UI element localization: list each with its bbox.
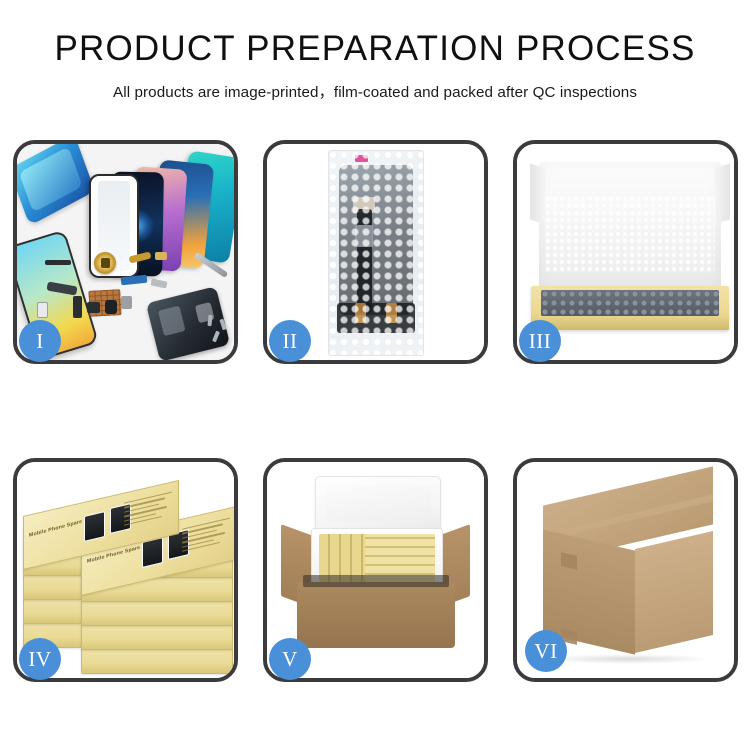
step-badge-4: IV <box>19 638 61 680</box>
step-panel-6: VI <box>513 458 738 682</box>
vibrator-motor-icon <box>105 300 117 314</box>
product-preparation-infographic: PRODUCT PREPARATION PROCESS All products… <box>0 0 750 750</box>
page-subtitle: All products are image-printed，film-coat… <box>0 80 750 102</box>
step-badge-5: V <box>269 638 311 680</box>
connector-row-icon <box>337 303 415 333</box>
stacked-box-edge <box>81 648 233 674</box>
sim-tray-icon <box>121 296 132 309</box>
step-panel-1: I <box>13 140 238 364</box>
page-title: PRODUCT PREPARATION PROCESS <box>0 30 750 69</box>
copper-coil-icon <box>94 252 116 274</box>
battery-connector-icon <box>37 302 48 318</box>
gold-contact-icon <box>386 303 397 323</box>
stacked-box-edge <box>81 624 233 650</box>
box-front-lip-icon <box>531 317 729 330</box>
process-steps-grid: I II <box>13 140 737 682</box>
box-stack-group: Mobile Phone Spare Parts Mobile Phone Sp… <box>23 488 234 666</box>
screen-assembly-icon <box>339 165 413 315</box>
small-flex-icon <box>73 296 82 318</box>
gold-contact-icon <box>355 303 366 323</box>
header: PRODUCT PREPARATION PROCESS All products… <box>0 0 750 102</box>
foam-liner-icon <box>545 196 715 272</box>
pink-label-tab-icon <box>355 155 368 162</box>
box-spec-lines <box>182 518 230 555</box>
carton-side-face-icon <box>635 531 713 653</box>
step-badge-6: VI <box>525 630 567 672</box>
wrapped-part-icon <box>541 290 719 316</box>
step-panel-4: Mobile Phone Spare Parts Mobile Phone Sp… <box>13 458 238 682</box>
foam-cooler-lid-icon <box>315 476 441 532</box>
speaker-mesh-icon <box>45 260 71 265</box>
gold-connector-icon <box>155 252 167 260</box>
step-panel-3: III <box>513 140 738 364</box>
bubble-wrap-bag <box>328 150 424 356</box>
step-badge-1: I <box>19 320 61 362</box>
box-spec-lines <box>124 492 172 529</box>
step-badge-3: III <box>519 320 561 362</box>
box-window-phone-icon <box>84 511 105 542</box>
step-panel-5: V <box>263 458 488 682</box>
kraft-box-tray-icon <box>531 286 729 330</box>
step-panel-2: II <box>263 140 488 364</box>
carton-shadow <box>543 654 713 664</box>
step-badge-2: II <box>269 320 311 362</box>
camera-module-icon <box>87 302 100 313</box>
stacked-box-edge <box>81 600 233 626</box>
open-carton-icon <box>297 582 455 648</box>
driver-chip-icon <box>355 225 373 247</box>
